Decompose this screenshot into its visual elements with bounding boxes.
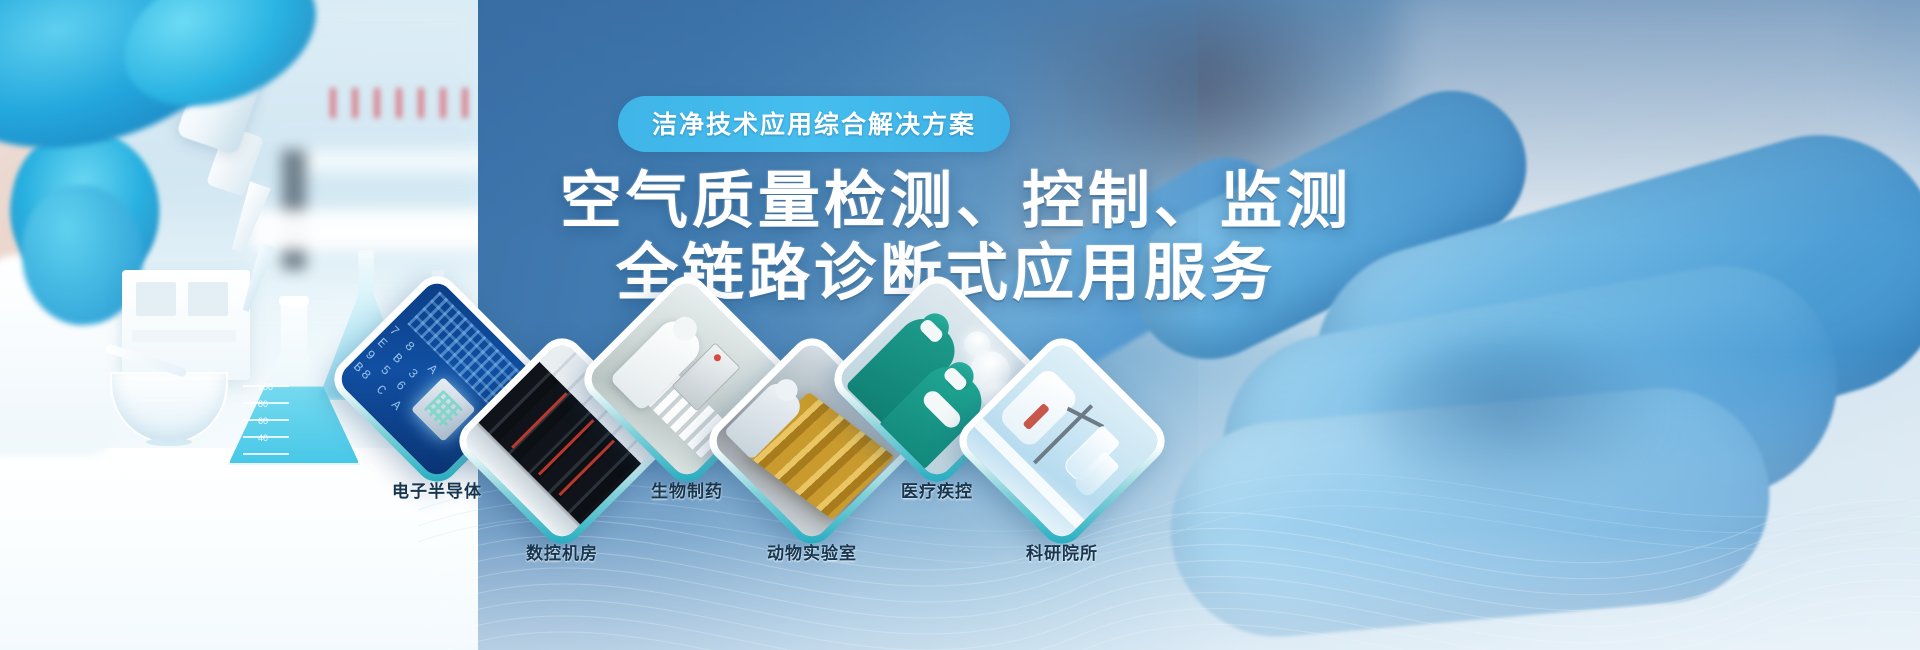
hero-banner: 100 80 60 40 (0, 0, 1920, 650)
industry-card-label: 动物实验室 (697, 539, 927, 564)
industry-card-research[interactable]: 科研院所 (983, 362, 1141, 520)
industry-card-label: 科研院所 (947, 539, 1177, 564)
industry-card-label: 数控机房 (447, 539, 677, 564)
industry-card-row: 7 8 AE B 39 5 6B8 C A 电子半导体 数控机房 (0, 0, 1920, 650)
research-lab-icon (960, 339, 1164, 543)
